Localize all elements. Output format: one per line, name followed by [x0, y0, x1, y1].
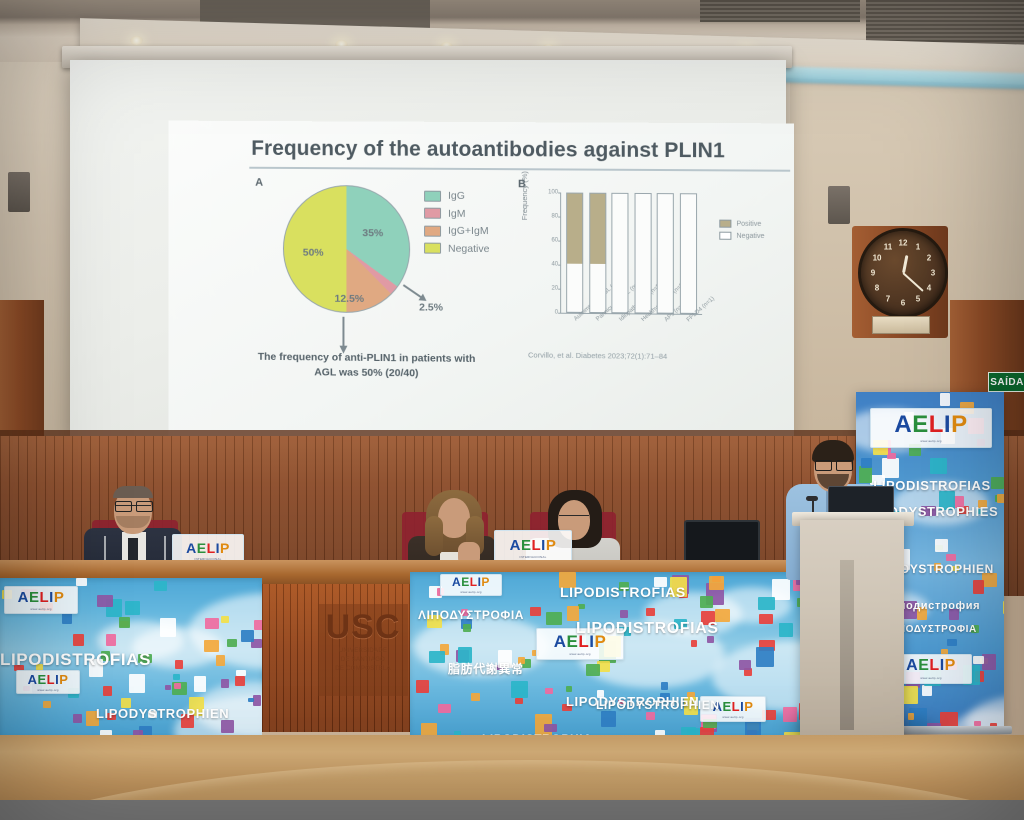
clock-numeral: 11	[884, 243, 892, 252]
banner-square	[646, 608, 655, 617]
legend-item: Negative	[719, 232, 764, 240]
legend-label-negative: Negative	[736, 232, 764, 239]
banner-square	[930, 458, 947, 475]
bar-chart-ytickmark	[558, 217, 561, 218]
clock-numeral: 3	[931, 269, 935, 278]
banner-square	[194, 676, 207, 692]
aelip-logo: AELIPwww.aelip.org	[16, 670, 80, 694]
banner-square	[861, 458, 872, 468]
banner-square	[759, 614, 773, 624]
clock-minute-hand	[902, 272, 923, 292]
banner-square	[204, 640, 218, 652]
bar-chart-ylabel: Frequency (%)	[520, 171, 529, 220]
legend-swatch-positive	[719, 220, 731, 228]
slide-title: Frequency of the autoantibodies against …	[251, 137, 725, 163]
banner-square	[221, 679, 229, 688]
aelip-wordmark: AELIP	[452, 576, 490, 588]
banner-square	[174, 683, 181, 688]
usc-logo: USC UNIVERSIDADE DE SANTIAGO DE COMPOSTE…	[318, 604, 408, 696]
banner-square	[973, 580, 985, 594]
banner-square	[129, 674, 145, 693]
banner-text: LIPODISTROFIAS	[560, 584, 686, 600]
bar-chart-ytickmark	[558, 265, 561, 266]
legend-label-igg: IgG	[448, 190, 465, 202]
banner-square	[982, 654, 996, 670]
legend-label-positive: Positive	[736, 220, 761, 227]
banner-square	[567, 606, 579, 621]
clock-numeral: 8	[875, 284, 879, 293]
ceiling-grille	[866, 0, 1024, 46]
banner-square	[783, 707, 797, 721]
banner-text: LIPODISTROFIAS	[576, 620, 719, 638]
clock-hour-hand	[902, 255, 908, 273]
aelip-website: www.aelip.org	[920, 439, 941, 443]
banner-square	[160, 618, 176, 637]
bar-chart-bar	[589, 193, 606, 313]
slide-caption-a: The frequency of anti-PLIN1 in patients …	[247, 350, 486, 383]
bar-chart-bar	[612, 193, 629, 314]
aelip-wordmark: AELIP	[510, 538, 557, 553]
banner-square	[530, 607, 540, 617]
table-banner-right: AELIPwww.aelip.orgAELIPwww.aelip.orgAELI…	[410, 572, 808, 736]
aelip-logo: AELIPwww.aelip.org	[440, 574, 502, 596]
banner-square	[586, 664, 600, 676]
wall-speaker	[828, 186, 850, 224]
pie-label-igg-igm: 12.5%	[335, 293, 365, 305]
banner-square	[205, 618, 218, 628]
banner-square	[935, 539, 948, 552]
banner-text: ΛΙΠΟΔΥΣΤΡΟΦΙΑ	[418, 608, 524, 622]
banner-square	[997, 494, 1004, 504]
banner-square	[700, 596, 713, 608]
banner-square	[940, 393, 950, 406]
banner-square	[119, 617, 130, 629]
aelip-logo: AELIPwww.aelip.org	[4, 586, 78, 614]
microphone-head	[806, 496, 818, 501]
panel-b-reference: Corvillo, et al. Diabetes 2023;72(1):71–…	[528, 350, 667, 360]
banner-square	[545, 688, 553, 694]
banner-square	[463, 624, 471, 632]
glasses-lens-right	[836, 460, 853, 471]
banner-text: LIPODISTROFIAS	[0, 650, 151, 670]
bar-chart-ytickmark	[558, 241, 561, 242]
auditorium-photo: Frequency of the autoantibodies against …	[0, 0, 1024, 820]
banner-square	[922, 685, 932, 696]
wall-clock: 123456789101112	[858, 228, 948, 318]
banner-square	[254, 620, 262, 630]
legend-label-negative: Negative	[448, 242, 489, 254]
banner-square	[97, 595, 112, 607]
aelip-wordmark: AELIP	[28, 673, 69, 686]
bar-chart-plot-area: 020406080100Autoimmune AGL (n=19)Pannicu…	[560, 192, 702, 314]
banner-square	[758, 597, 775, 610]
banner-text: 脂肪代謝異常	[448, 660, 524, 677]
aelip-wordmark: AELIP	[906, 658, 956, 674]
banner-square	[661, 682, 668, 690]
banner-square	[691, 640, 697, 647]
banner-square	[429, 651, 445, 663]
banner-square	[248, 698, 254, 702]
banner-square	[154, 581, 167, 591]
banner-square	[43, 701, 51, 708]
aelip-website: www.aelip.org	[722, 715, 743, 719]
caption-arrow	[342, 317, 344, 347]
banner-square	[62, 613, 72, 624]
clock-numeral: 4	[927, 284, 931, 293]
banner-square	[227, 639, 238, 647]
clock-numeral: 6	[901, 299, 905, 308]
usc-wordmark: USC	[326, 610, 401, 644]
banner-square	[544, 724, 556, 732]
banner-square	[221, 616, 229, 623]
bar-segment-positive	[568, 194, 583, 264]
banner-square	[173, 674, 180, 680]
ceiling-grille	[700, 0, 860, 22]
aelip-tagline: INTERNACIONAL	[520, 555, 547, 559]
room-floor	[0, 800, 1024, 820]
banner-square	[103, 686, 113, 696]
legend-item: Negative	[424, 242, 489, 254]
banner-square	[947, 639, 957, 646]
bar-chart-bar	[657, 193, 674, 314]
banner-square	[73, 634, 85, 646]
bar-chart-bar	[567, 193, 584, 313]
bar-chart-bar	[634, 193, 651, 314]
aelip-website: www.aelip.org	[37, 688, 58, 692]
clock-numeral: 12	[899, 239, 908, 248]
exit-sign: SAÍDA	[988, 372, 1024, 392]
banner-square	[601, 711, 617, 727]
glasses-icon	[559, 515, 589, 519]
legend-swatch-negative	[424, 243, 441, 254]
aelip-website: www.aelip.org	[30, 607, 51, 611]
clock-numeral: 7	[886, 294, 890, 303]
bar-chart-ytickmark	[558, 313, 561, 314]
downlight	[130, 36, 143, 45]
clock-numeral: 1	[916, 243, 920, 252]
glasses-lens-left	[115, 501, 132, 512]
clock-numeral: 5	[916, 294, 920, 303]
panel-a-letter: A	[255, 177, 263, 189]
bar-chart-legend: Positive Negative	[719, 220, 764, 244]
legend-swatch-igg	[424, 190, 441, 201]
banner-square	[511, 681, 528, 698]
projector-screen: Frequency of the autoantibodies against …	[70, 60, 786, 442]
pie-label-negative: 50%	[303, 247, 324, 259]
banner-text: LIPODYSTROPHIEN	[96, 706, 229, 721]
legend-item: IgG+IgM	[424, 225, 489, 237]
banner-square	[73, 714, 82, 723]
banner-square	[779, 623, 792, 636]
legend-swatch-igm	[424, 208, 441, 219]
banner-square	[241, 630, 254, 642]
banner-square	[165, 685, 171, 690]
aelip-wordmark: AELIP	[18, 590, 65, 605]
banner-square	[946, 554, 955, 562]
glasses-lens-left	[815, 460, 832, 471]
aelip-website: www.aelip.org	[920, 676, 941, 680]
aelip-wordmark: AELIP	[894, 413, 967, 437]
banner-square	[566, 686, 572, 692]
banner-square	[416, 680, 428, 693]
podium-stem	[840, 560, 854, 730]
banner-square	[221, 720, 234, 733]
hair	[113, 486, 153, 498]
wall-speaker	[8, 172, 30, 212]
banner-square	[973, 656, 983, 664]
glasses-lens-right	[136, 501, 153, 512]
clock-numeral: 10	[873, 254, 882, 263]
clock-numeral: 9	[871, 269, 875, 278]
banner-text: LIPODYSTROPHIEN	[596, 698, 720, 712]
banner-square	[887, 453, 896, 459]
bar-chart-bar	[679, 193, 696, 314]
aelip-website: www.aelip.org	[460, 590, 481, 594]
legend-item: IgM	[424, 207, 489, 219]
banner-square	[125, 601, 140, 615]
aelip-logo: AELIPwww.aelip.org	[870, 408, 992, 448]
banner-square	[546, 612, 562, 625]
bar-chart-ytickmark	[558, 192, 561, 193]
banner-square	[438, 704, 451, 713]
banner-square	[253, 695, 261, 705]
pie-label-igm: 2.5%	[419, 301, 443, 313]
banner-square	[216, 655, 225, 667]
pie-legend: IgG IgM IgG+IgM Negative	[424, 190, 489, 260]
usc-institution-name: UNIVERSIDADE DE SANTIAGO DE COMPOSTELA	[335, 647, 391, 674]
banner-square	[106, 634, 117, 646]
legend-swatch-negative	[719, 232, 731, 240]
banner-square	[515, 698, 523, 704]
banner-square	[471, 693, 480, 701]
aelip-website: www.aelip.org	[569, 652, 590, 656]
banner-square	[902, 686, 918, 703]
banner-square	[882, 458, 899, 477]
legend-item: Positive	[719, 220, 764, 228]
aelip-wordmark: AELIP	[186, 541, 230, 555]
banner-square	[76, 578, 87, 586]
clock-numeral: 2	[927, 254, 931, 263]
banner-square	[709, 576, 724, 590]
pie-label-igg: 35%	[362, 227, 383, 239]
banner-square	[739, 660, 751, 670]
table-banner-left: AELIPwww.aelip.orgAELIPwww.aelip.orgLIPO…	[0, 578, 262, 736]
bar-segment-positive	[590, 194, 605, 264]
banner-square	[175, 660, 183, 669]
banner-square	[756, 647, 774, 666]
banner-square	[1003, 601, 1004, 614]
legend-label-igg-igm: IgG+IgM	[448, 225, 489, 237]
legend-label-igm: IgM	[448, 207, 465, 219]
banner-square	[235, 676, 244, 686]
bar-chart-ytickmark	[558, 289, 561, 290]
legend-swatch-igg-igm	[424, 225, 441, 236]
banner-square	[646, 712, 655, 721]
hair-strand	[425, 516, 443, 556]
legend-item: IgG	[424, 190, 489, 202]
clock-nameplate	[872, 316, 930, 334]
exit-sign-label: SAÍDA	[990, 377, 1024, 388]
banner-square	[620, 610, 628, 618]
